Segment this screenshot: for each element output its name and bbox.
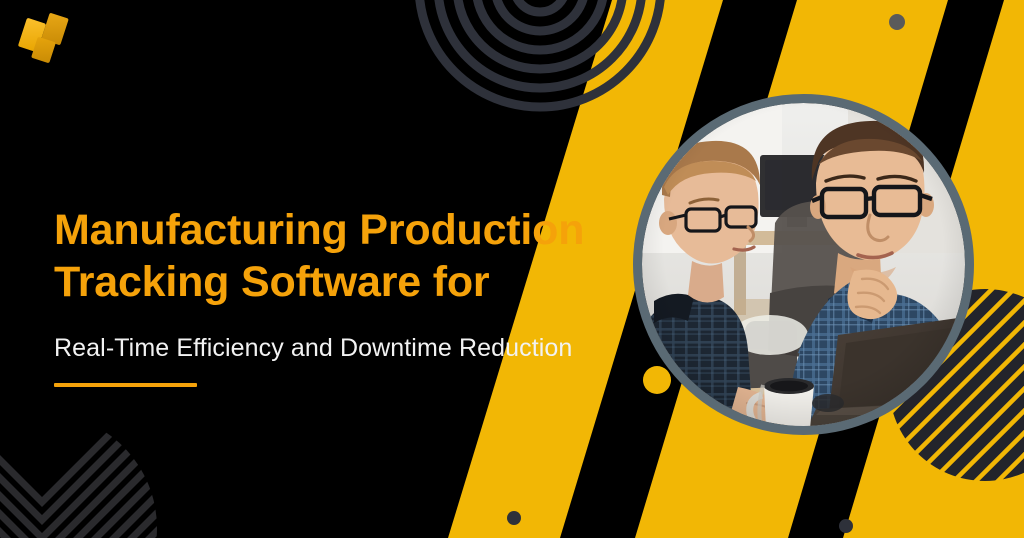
hero-copy: Manufacturing Production Tracking Softwa…	[54, 204, 614, 387]
hero-photo	[642, 103, 965, 426]
dot-bottom-center	[507, 511, 521, 525]
dot-top-right	[889, 14, 905, 30]
dot-bottom-right	[839, 519, 853, 533]
hero-photo-frame	[633, 94, 974, 435]
accent-underline	[54, 383, 197, 387]
hero-banner: Manufacturing Production Tracking Softwa…	[0, 0, 1024, 538]
brand-logo[interactable]	[18, 10, 74, 62]
page-title: Manufacturing Production Tracking Softwa…	[54, 204, 614, 308]
office-photo-illustration	[642, 103, 965, 426]
page-subtitle: Real-Time Efficiency and Downtime Reduct…	[54, 334, 614, 363]
dot-left-of-photo	[643, 366, 671, 394]
